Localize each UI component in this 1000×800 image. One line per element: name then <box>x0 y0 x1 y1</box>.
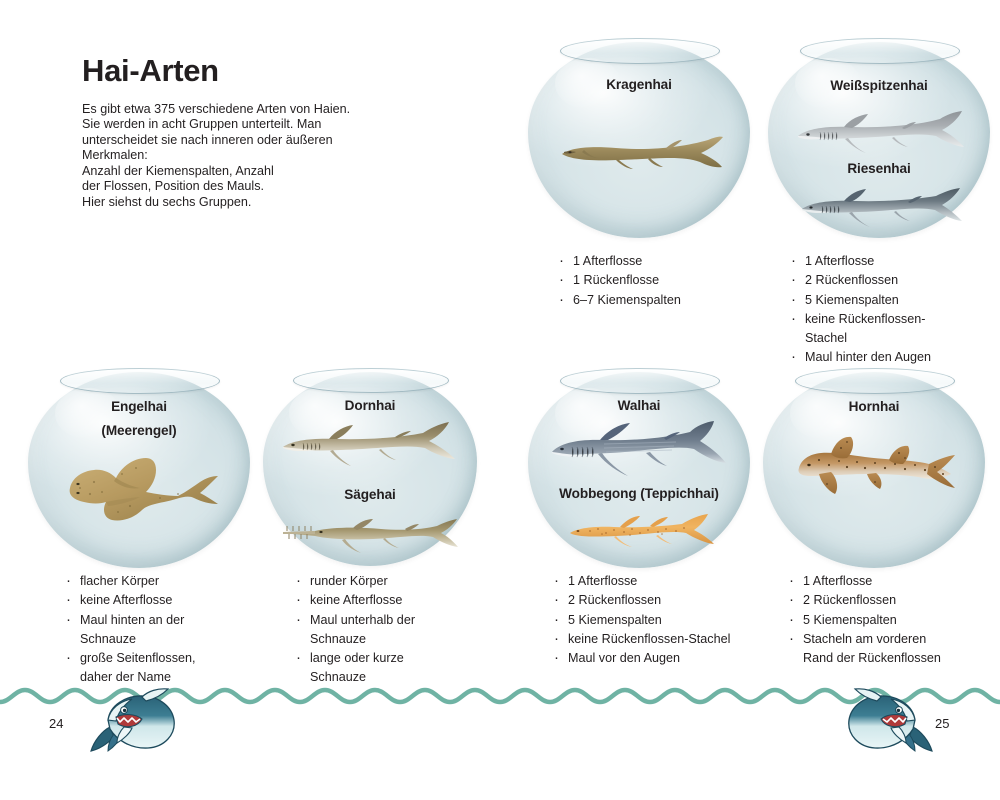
bowl-label-saegehai: Sägehai <box>263 487 477 502</box>
bowl-label-wobbegong: Wobbegong (Teppichhai) <box>516 486 762 501</box>
wobbegong-shark-icon <box>566 512 716 548</box>
fishbowl-rim <box>800 38 960 64</box>
bowl-label-meerengel: (Meerengel) <box>28 423 250 438</box>
dogfish-shark-icon <box>277 420 463 470</box>
whale-shark-icon <box>546 420 734 482</box>
bowl-label-dornhai: Dornhai <box>263 398 477 413</box>
facts-walhai: 1 Afterflosse 2 Rückenflossen 5 Kiemensp… <box>553 572 783 668</box>
list-item: 1 Rückenflosse <box>558 271 758 290</box>
facts-hornhai: 1 Afterflosse 2 Rückenflossen 5 Kiemensp… <box>788 572 993 668</box>
list-item: 2 Rückenflossen <box>788 591 993 610</box>
list-item: Maul unterhalb der Schnauze <box>295 611 485 650</box>
list-item: 5 Kiemenspalten <box>790 291 990 310</box>
facts-list: 1 Afterflosse 2 Rückenflossen 5 Kiemensp… <box>553 572 783 668</box>
page-title: Hai-Arten <box>82 55 422 88</box>
facts-list: 1 Afterflosse 2 Rückenflossen 5 Kiemensp… <box>790 252 990 368</box>
cartoon-shark-icon-left <box>80 687 190 759</box>
intro-block: Hai-Arten Es gibt etwa 375 verschiedene … <box>82 55 422 210</box>
bowl-group-dornhai: Dornhai Sägeha <box>263 372 477 572</box>
basking-shark-icon <box>796 187 964 229</box>
list-item: keine Afterflosse <box>295 591 485 610</box>
list-item: 1 Afterflosse <box>553 572 783 591</box>
list-item: 2 Rückenflossen <box>790 271 990 290</box>
page-number-left: 24 <box>49 716 63 731</box>
horn-shark-icon <box>791 434 961 498</box>
facts-list: 1 Afterflosse 2 Rückenflossen 5 Kiemensp… <box>788 572 993 668</box>
angel-shark-icon <box>60 452 222 524</box>
fishbowl-rim <box>560 368 720 394</box>
bowl-label-riesenhai: Riesenhai <box>768 161 990 176</box>
page-spread: Hai-Arten Es gibt etwa 375 verschiedene … <box>0 0 1000 800</box>
facts-kragenhai: 1 Afterflosse 1 Rückenflosse 6–7 Kiemens… <box>558 252 758 310</box>
bowl-label-hornhai: Hornhai <box>763 399 985 414</box>
facts-engelhai: flacher Körper keine Afterflosse Maul hi… <box>65 572 255 688</box>
whitetip-shark-icon <box>790 110 968 158</box>
list-item: Maul vor den Augen <box>553 649 783 668</box>
list-item: 5 Kiemenspalten <box>788 611 993 630</box>
facts-dornhai: runder Körper keine Afterflosse Maul unt… <box>295 572 485 688</box>
list-item: 5 Kiemenspalten <box>553 611 783 630</box>
facts-list: runder Körper keine Afterflosse Maul unt… <box>295 572 485 688</box>
bowl-group-hornhai: Hornhai <box>763 372 985 572</box>
list-item: keine Rückenflossen-Stachel <box>553 630 783 649</box>
bowl-group-engelhai: Engelhai (Meerengel) <box>28 372 250 572</box>
page-number-right: 25 <box>935 716 949 731</box>
bowl-group-kragenhai: Kragenhai 1 Afterflosse 1 Rückenflosse <box>528 42 750 242</box>
list-item: 1 Afterflosse <box>788 572 993 591</box>
list-item: Stacheln am vorderen Rand der Rückenflos… <box>788 630 993 669</box>
list-item: flacher Körper <box>65 572 255 591</box>
facts-list: flacher Körper keine Afterflosse Maul hi… <box>65 572 255 688</box>
frilled-shark-icon <box>558 134 724 178</box>
cartoon-shark-icon-right <box>833 687 943 759</box>
fishbowl-rim <box>60 368 220 394</box>
sawshark-icon <box>281 515 459 555</box>
intro-paragraph: Es gibt etwa 375 verschiedene Arten von … <box>82 102 422 211</box>
list-item: 1 Afterflosse <box>558 252 758 271</box>
bowl-label-engelhai: Engelhai <box>28 399 250 414</box>
list-item: keine Afterflosse <box>65 591 255 610</box>
bowl-group-walhai: Walhai <box>528 372 750 572</box>
fishbowl-rim <box>795 368 955 394</box>
facts-weissspitzenhai: 1 Afterflosse 2 Rückenflossen 5 Kiemensp… <box>790 252 990 368</box>
list-item: runder Körper <box>295 572 485 591</box>
bowl-group-weissspitzenhai: Weißspitzenhai <box>768 42 990 242</box>
list-item: Maul hinten an der Schnauze <box>65 611 255 650</box>
fishbowl-rim <box>293 368 449 393</box>
facts-list: 1 Afterflosse 1 Rückenflosse 6–7 Kiemens… <box>558 252 758 310</box>
bowl-label-weissspitzenhai: Weißspitzenhai <box>768 78 990 93</box>
fishbowl-rim <box>560 38 720 64</box>
bowl-label-walhai: Walhai <box>528 398 750 413</box>
list-item: 2 Rückenflossen <box>553 591 783 610</box>
bowl-label-kragenhai: Kragenhai <box>528 77 750 92</box>
list-item: 1 Afterflosse <box>790 252 990 271</box>
list-item: Maul hinter den Augen <box>790 348 990 367</box>
list-item: keine Rückenflossen- Stachel <box>790 310 990 349</box>
list-item: 6–7 Kiemenspalten <box>558 291 758 310</box>
